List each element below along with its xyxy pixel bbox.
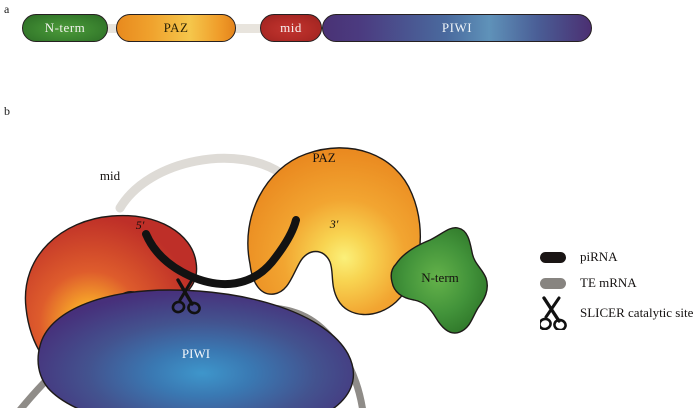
domain-box-piwi: PIWI — [322, 14, 592, 42]
piwi-complex-diagram: mid 5′ PAZ 3′ N-term PIWI — [0, 96, 520, 408]
legend-swatch-pirna — [540, 252, 580, 263]
domain-label-piwi: PIWI — [442, 20, 472, 36]
blob-label-mid: mid — [100, 168, 121, 183]
legend-label-temrna: TE mRNA — [580, 275, 637, 291]
legend-row-pirna: piRNA — [540, 244, 700, 270]
rna-label-5prime: 5′ — [136, 218, 145, 232]
blob-label-piwi: PIWI — [182, 346, 210, 361]
legend-row-temrna: TE mRNA — [540, 270, 700, 296]
rna-label-3prime: 3′ — [329, 217, 339, 231]
legend: piRNA TE mRNA SLICER catalytic site — [540, 244, 700, 330]
legend-row-slicer: SLICER catalytic site — [540, 296, 700, 330]
domain-label-nterm: N-term — [45, 20, 86, 36]
domain-box-mid: mid — [260, 14, 322, 42]
domain-label-paz: PAZ — [164, 20, 189, 36]
domain-box-nterm: N-term — [22, 14, 108, 42]
blob-label-paz: PAZ — [312, 150, 335, 165]
blob-label-nterm: N-term — [421, 270, 459, 285]
legend-label-pirna: piRNA — [580, 249, 618, 265]
domain-box-paz: PAZ — [116, 14, 236, 42]
te-mrna-bar-icon — [540, 278, 566, 289]
legend-swatch-slicer — [540, 296, 580, 330]
scissors-icon-legend — [540, 296, 570, 330]
pirna-bar-icon — [540, 252, 566, 263]
domain-architecture-bar: N-term PAZ mid PIWI — [0, 10, 700, 44]
domain-label-mid: mid — [280, 20, 302, 36]
legend-label-slicer: SLICER catalytic site — [580, 305, 693, 321]
legend-swatch-temrna — [540, 278, 580, 289]
